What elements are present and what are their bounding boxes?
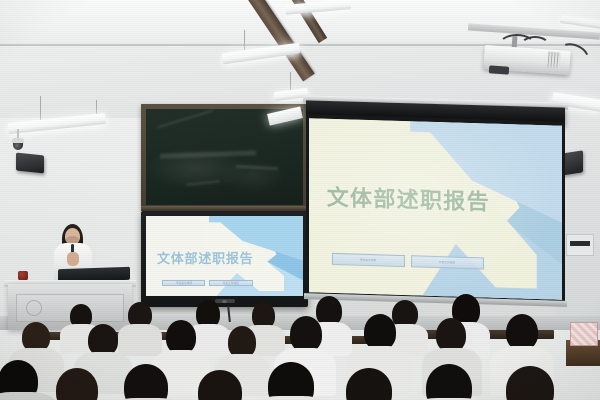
projector-lens: [489, 65, 510, 74]
av-wall-plate-slot: [570, 241, 590, 246]
projection-screen[interactable]: 文体部述职报告 学生会文体部 年度工作总结: [309, 118, 562, 300]
speaker-icon: [16, 153, 44, 174]
slide-title: 文体部述职报告: [327, 180, 490, 217]
projector-vent: [547, 52, 560, 69]
slide-subtitle-left-text: 学生会文体部: [360, 258, 376, 262]
light-rod: [244, 30, 245, 50]
slide-subtitle-left: 学生会文体部: [332, 253, 405, 267]
slide-title: 文体部述职报告: [157, 248, 253, 267]
slide-subtitle-right: 年度工作总结: [411, 255, 484, 269]
classroom-photo: 文体部述职报告 学生会文体部 年度工作总结 文体部述职报告 学生会文体部 年度工…: [0, 0, 600, 400]
light-rod: [40, 96, 41, 120]
presenter-hands: [67, 252, 79, 266]
audience: HOPE: [0, 280, 600, 400]
slide-subtitle-right-text: 年度工作总结: [439, 260, 455, 264]
